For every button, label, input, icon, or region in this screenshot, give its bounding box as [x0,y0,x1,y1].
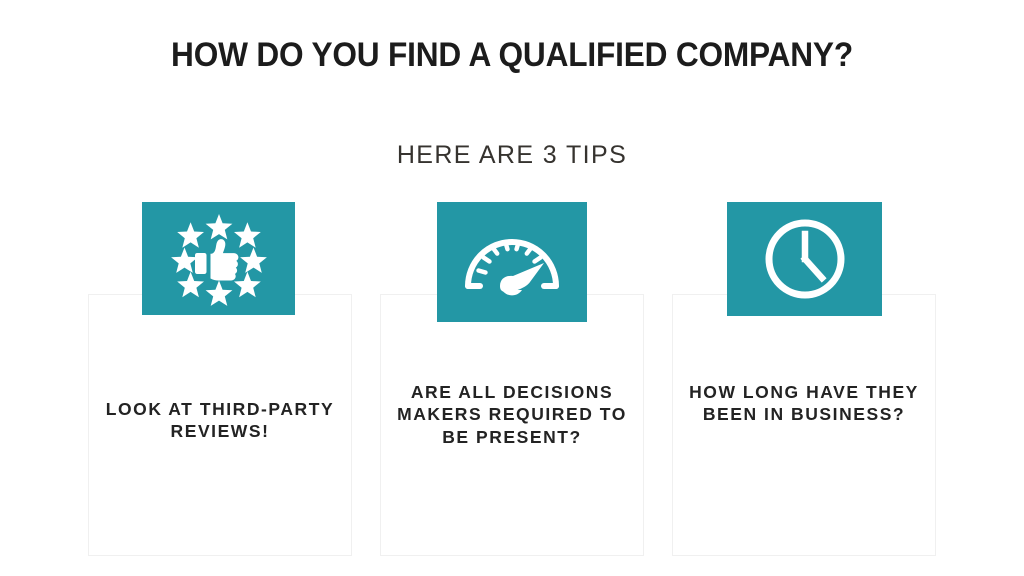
tip-caption-3: HOW LONG HAVE THEY BEEN IN BUSINESS? [672,381,936,426]
page-title: HOW DO YOU FIND A QUALIFIED COMPANY? [36,36,988,75]
tip-caption-1: LOOK AT THIRD-PARTY REVIEWS! [88,398,352,443]
tip-caption-2: ARE ALL DECISIONS MAKERS REQUIRED TO BE … [380,381,644,448]
thumbs-up-stars-icon [167,212,271,306]
speedometer-icon [460,220,564,304]
clock-icon [762,216,848,302]
page-subtitle: HERE ARE 3 TIPS [0,141,1024,170]
tip-icon-tile-2 [437,202,587,322]
tip-icon-tile-3 [727,202,882,316]
tip-icon-tile-1 [142,202,295,315]
